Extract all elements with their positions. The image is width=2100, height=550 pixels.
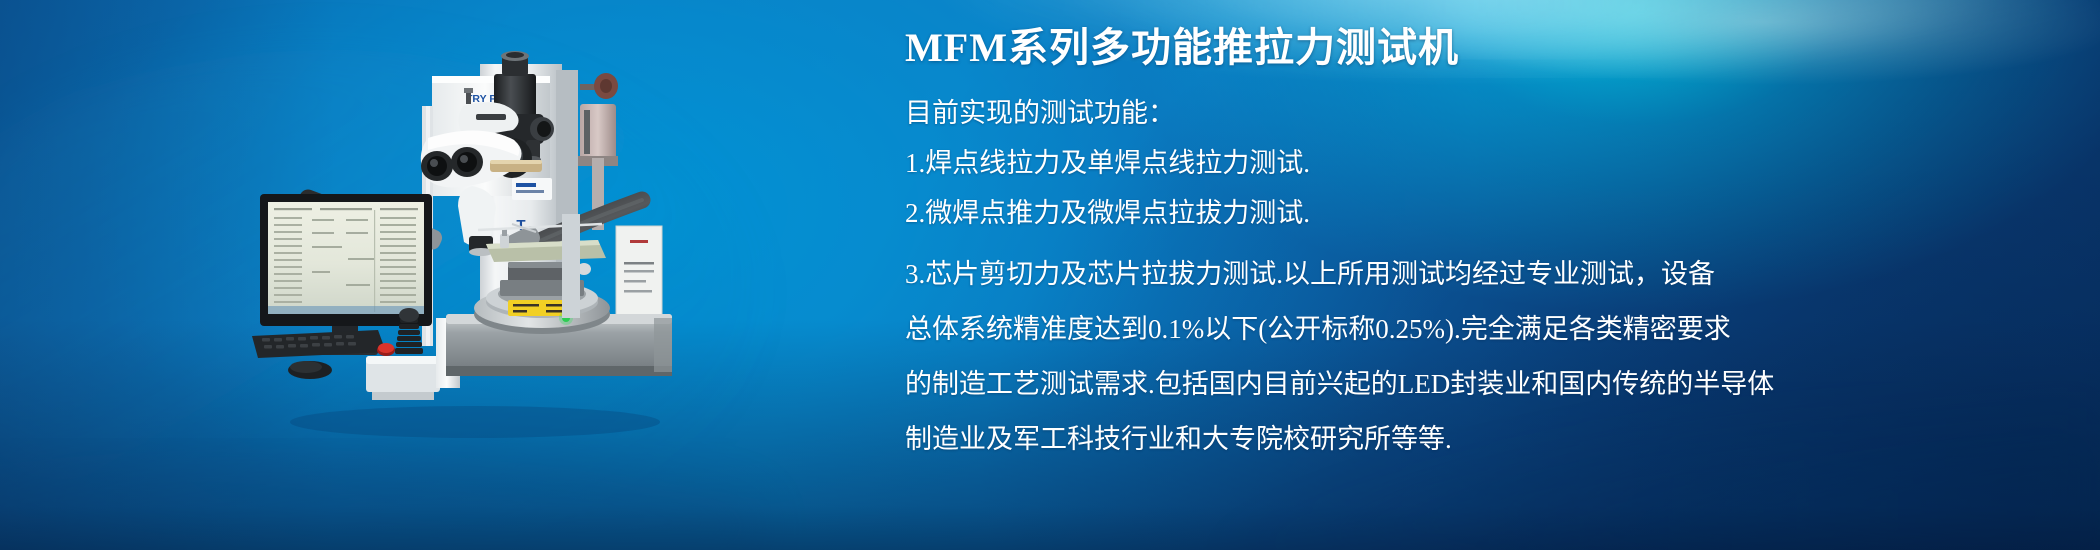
description-line-2: 总体系统精准度达到0.1%以下(公开标称0.25%).完全满足各类精密要求	[905, 303, 2055, 356]
description-paragraph: 3.芯片剪切力及芯片拉拔力测试.以上所用测试均经过专业测试，设备 总体系统精准度…	[905, 248, 2055, 466]
banner-copy: MFM系列多功能推拉力测试机 目前实现的测试功能： 1.焊点线拉力及单焊点线拉力…	[905, 22, 2055, 466]
description-line-3: 的制造工艺测试需求.包括国内目前兴起的LED封装业和国内传统的半导体	[905, 358, 2055, 411]
product-banner: D G F T TRY Preci	[0, 0, 2100, 550]
product-photo: D G F T TRY Preci	[250, 18, 680, 438]
feature-item-2: 2.微焊点推力及微焊点拉拔力测试.	[905, 188, 2055, 238]
feature-item-1: 1.焊点线拉力及单焊点线拉力测试.	[905, 138, 2055, 188]
description-line-1: 3.芯片剪切力及芯片拉拔力测试.以上所用测试均经过专业测试，设备	[905, 248, 2055, 301]
description-line-4: 制造业及军工科技行业和大专院校研究所等等.	[905, 413, 2055, 466]
page-title: MFM系列多功能推拉力测试机	[905, 22, 2055, 74]
feature-list-lead: 目前实现的测试功能：	[905, 88, 2055, 138]
